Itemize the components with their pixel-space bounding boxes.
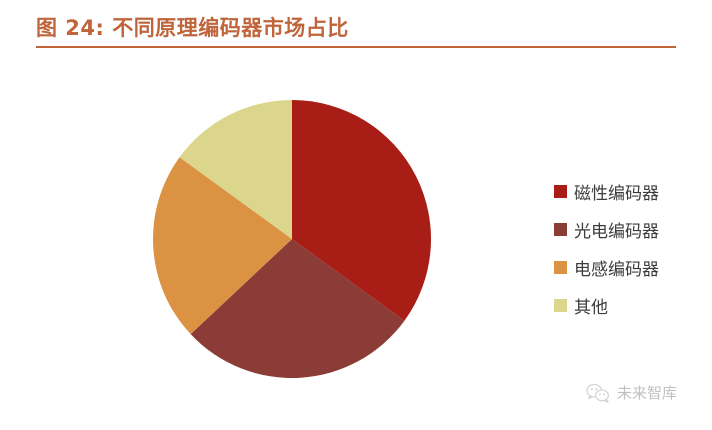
legend-swatch-icon (554, 261, 567, 274)
legend-label: 磁性编码器 (574, 179, 659, 204)
legend-swatch-icon (554, 299, 567, 312)
legend-label: 光电编码器 (574, 217, 659, 242)
page-title: 图 24: 不同原理编码器市场占比 (36, 14, 676, 42)
legend-label: 电感编码器 (574, 255, 659, 280)
legend-label: 其他 (574, 293, 608, 318)
legend-item[interactable]: 光电编码器 (554, 210, 704, 248)
legend-item[interactable]: 磁性编码器 (554, 172, 704, 210)
wechat-logo-icon (586, 383, 610, 403)
legend-item[interactable]: 其他 (554, 286, 704, 324)
pie-slice-group (153, 100, 431, 378)
watermark-label: 未来智库 (617, 382, 677, 403)
figure-header: 图 24: 不同原理编码器市场占比 (36, 14, 676, 48)
chart-legend: 磁性编码器光电编码器电感编码器其他 (554, 172, 704, 324)
legend-swatch-icon (554, 223, 567, 236)
pie-chart-svg (152, 99, 432, 379)
chart-area: 磁性编码器光电编码器电感编码器其他 (0, 60, 712, 390)
title-divider (36, 46, 676, 48)
pie-chart (152, 99, 432, 379)
watermark: 未来智库 (586, 382, 677, 403)
legend-item[interactable]: 电感编码器 (554, 248, 704, 286)
legend-swatch-icon (554, 185, 567, 198)
